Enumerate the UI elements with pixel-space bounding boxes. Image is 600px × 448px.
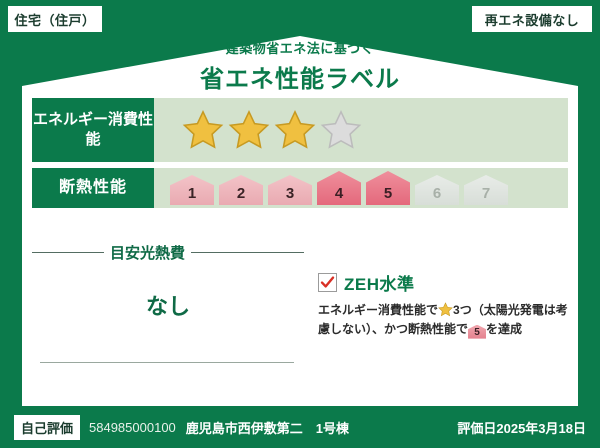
zeh-description: エネルギー消費性能で 3つ（太陽光発電は考慮しない）、かつ断熱性能で5を達成 (318, 301, 568, 339)
label-title-block: 建築物省エネ法に基づく 省エネ性能ラベル (0, 38, 600, 94)
title-main: 省エネ性能ラベル (0, 59, 600, 94)
star-icon-filled (228, 109, 270, 151)
label-id: 584985000100 (89, 420, 176, 435)
zeh-title: ZEH水準 (344, 270, 415, 295)
zeh-desc-part1: エネルギー消費性能で (318, 303, 438, 317)
inline-grade-badge: 5 (468, 325, 486, 339)
star-icon-filled (274, 109, 316, 151)
building-type-tag: 住宅（住戸） (8, 6, 102, 32)
evaluation-date: 評価日2025年3月18日 (457, 418, 586, 437)
insulation-grade-7: 7 (464, 175, 508, 205)
performance-panels: エネルギー消費性能 断熱性能 1234567 (32, 98, 568, 214)
insulation-value: 1234567 (154, 168, 568, 208)
insulation-row: 断熱性能 1234567 (32, 168, 568, 208)
energy-consumption-label: エネルギー消費性能 (32, 98, 154, 162)
utility-cost-block: 目安光熱費 なし (32, 238, 304, 386)
utility-cost-title: 目安光熱費 (104, 242, 191, 263)
renewable-energy-tag: 再エネ設備なし (472, 6, 592, 32)
insulation-label: 断熱性能 (32, 168, 154, 208)
insulation-grade-2: 2 (219, 175, 263, 205)
insulation-grade-5: 5 (366, 171, 410, 205)
self-evaluation-badge: 自己評価 (14, 415, 80, 440)
utility-cost-value: なし (32, 289, 304, 321)
zeh-desc-part3: を達成 (486, 322, 522, 336)
star-rating (182, 109, 362, 151)
star-icon-filled (182, 109, 224, 151)
title-subtitle: 建築物省エネ法に基づく (0, 38, 600, 57)
insulation-grade-4: 4 (317, 171, 361, 205)
label-footer: 自己評価 584985000100 鹿児島市西伊敷第二 1号棟 評価日2025年… (0, 406, 600, 448)
energy-performance-label: 住宅（住戸） 再エネ設備なし 建築物省エネ法に基づく 省エネ性能ラベル エネルギ… (0, 0, 600, 448)
cost-rule-right (191, 252, 304, 253)
zeh-block: ZEH水準 エネルギー消費性能で 3つ（太陽光発電は考慮しない）、かつ断熱性能で… (304, 238, 568, 386)
cost-bottom-divider (40, 362, 294, 363)
cost-rule-left (32, 252, 104, 253)
property-address: 鹿児島市西伊敷第二 1号棟 (186, 418, 349, 437)
energy-consumption-row: エネルギー消費性能 (32, 98, 568, 162)
utility-cost-header: 目安光熱費 (32, 242, 304, 263)
energy-consumption-label-text: エネルギー消費性能 (32, 110, 154, 151)
insulation-grade-1: 1 (170, 175, 214, 205)
inline-star-icon (438, 302, 453, 317)
zeh-header: ZEH水準 (318, 270, 568, 295)
star-icon-empty (320, 109, 362, 151)
insulation-grade-3: 3 (268, 175, 312, 205)
insulation-grade-scale: 1234567 (170, 171, 508, 205)
insulation-grade-6: 6 (415, 175, 459, 205)
lower-section: 目安光熱費 なし ZEH水準 エネルギー消費性能で 3つ（太陽光発電は考 (32, 238, 568, 386)
energy-consumption-value (154, 98, 568, 162)
zeh-checkbox[interactable] (318, 273, 337, 292)
insulation-label-text: 断熱性能 (59, 177, 127, 199)
